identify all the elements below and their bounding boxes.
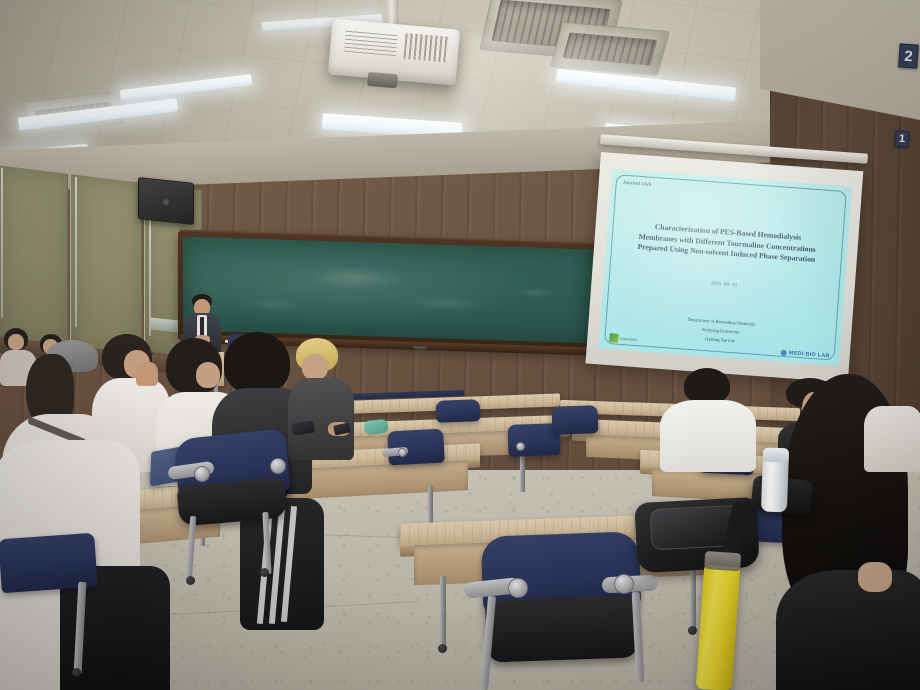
blind-panel[interactable] — [70, 174, 142, 361]
tumbler-lid — [763, 448, 789, 463]
chair-caster — [72, 668, 81, 677]
wall-sign-1: 1 — [894, 131, 909, 148]
desk-leg — [520, 452, 525, 492]
ac-vent-inner — [563, 32, 657, 65]
chair-seat-foreground[interactable] — [485, 595, 639, 662]
chair-arm-knob — [614, 574, 634, 594]
chair-caster — [260, 568, 269, 577]
desk-leg — [440, 576, 446, 646]
desk-caster — [688, 626, 697, 635]
chair-arm-knob — [508, 578, 528, 598]
lab-logo-icon — [781, 350, 787, 356]
student-hair — [684, 368, 730, 404]
student-right-white-shirt — [660, 368, 756, 472]
ceiling-projector — [328, 19, 460, 86]
student-jacket — [288, 378, 354, 460]
university-logo-icon — [609, 333, 619, 343]
student-blonde — [290, 338, 352, 460]
chair-arm-knob — [398, 448, 407, 457]
student-arm — [136, 362, 158, 386]
chair-back-row-mid-2[interactable] — [436, 399, 481, 423]
umbrella-handle — [704, 551, 741, 571]
student-neck-skin — [858, 562, 892, 592]
presentation-slide: Journal club Characterization of PES-Bas… — [599, 169, 853, 366]
university-logo: KONYANG — [609, 333, 637, 344]
chair-arm-knob — [516, 442, 525, 451]
student-head — [302, 354, 328, 380]
wall-speaker-icon — [138, 177, 194, 225]
university-logo-text: KONYANG — [620, 336, 637, 341]
student-black-top — [776, 570, 920, 690]
blackboard-surface — [183, 237, 593, 344]
projector-lens — [367, 72, 398, 89]
ac-vent-cassette-secondary — [550, 22, 670, 77]
desk-caster — [438, 644, 447, 653]
student-right-far — [864, 372, 920, 472]
black-backpack-right — [634, 497, 759, 573]
wall-sign-2: 2 — [898, 43, 919, 68]
chalk-smears — [183, 237, 593, 344]
projector-vent-icon — [403, 33, 449, 63]
white-tumbler — [761, 448, 789, 513]
chair-back-row-mid[interactable] — [552, 405, 599, 435]
projector-label-sticker — [344, 30, 398, 56]
chair-arm-knob — [194, 466, 210, 482]
chair-arm-knob — [270, 458, 286, 474]
lecture-hall-photo: 2 1 Journal club Characterization of PES… — [0, 0, 920, 690]
student-tshirt-white — [660, 400, 756, 472]
chair-caster — [186, 576, 195, 585]
student-white-top — [864, 406, 920, 472]
blind-panel[interactable] — [0, 165, 68, 352]
desk-leg — [690, 566, 696, 628]
projection-screen: Journal club Characterization of PES-Bas… — [585, 152, 863, 383]
student-hair — [224, 332, 290, 394]
